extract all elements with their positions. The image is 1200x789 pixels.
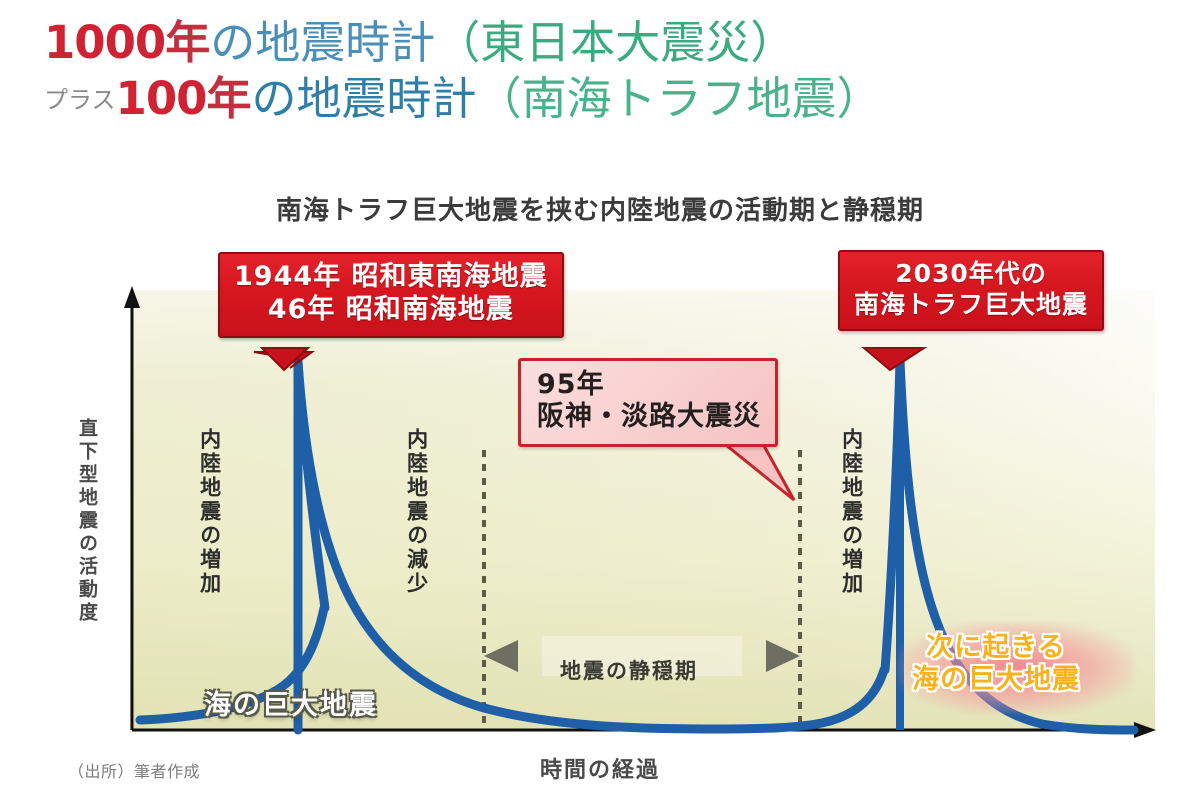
- headline-l1-seg-2: 年: [165, 16, 210, 69]
- headline-l1-seg-1: 1000: [44, 16, 165, 69]
- label-inland-increase-right: 内陸地震の増加: [840, 428, 863, 596]
- headline-line-1: 1000年の地震時計（東日本大震災）: [44, 18, 1044, 68]
- callout-right-tail: [864, 348, 924, 370]
- callout-2030-nankai: 2030年代の 南海トラフ巨大地震: [838, 250, 1104, 331]
- headline-line-2: プラス100年の地震時計（南海トラフ地震）: [44, 74, 1044, 124]
- callout-1944-line1: 1944年 昭和東南海地震: [234, 261, 548, 294]
- label-next-sea-quake-line2: 海の巨大地震: [912, 664, 1080, 696]
- label-inland-decrease: 内陸地震の減少: [405, 428, 428, 596]
- headline-l2-seg-2: 100: [116, 72, 207, 125]
- headline: 1000年の地震時計（東日本大震災） プラス100年の地震時計（南海トラフ地震）: [44, 18, 1044, 125]
- headline-l2-seg-3: 年: [206, 72, 251, 125]
- callout-2030-line1: 2030年代の: [854, 259, 1088, 290]
- callout-2030-line2: 南海トラフ巨大地震: [854, 290, 1088, 321]
- label-sea-quake-left: 海の巨大地震: [204, 683, 378, 722]
- y-axis: [124, 286, 140, 730]
- headline-l2-seg-4: の地震時計: [251, 72, 476, 125]
- callout-1944-showa: 1944年 昭和東南海地震 46年 昭和南海地震: [218, 252, 564, 338]
- label-inland-increase-left: 内陸地震の増加: [198, 428, 221, 596]
- source-note: （出所）筆者作成: [68, 758, 200, 782]
- chart-title: 南海トラフ巨大地震を挟む内陸地震の活動期と静穏期: [0, 190, 1200, 227]
- label-quiet-period: 地震の静穏期: [560, 655, 698, 685]
- headline-l2-seg-5: （南海トラフ地震）: [477, 72, 882, 125]
- callout-1995-line2: 阪神・淡路大震災: [537, 401, 761, 433]
- callout-1995-hanshin: 95年 阪神・淡路大震災: [518, 358, 778, 447]
- label-next-sea-quake-line1: 次に起きる: [912, 632, 1080, 664]
- headline-l2-seg-1: プラス: [44, 86, 116, 114]
- headline-l1-seg-3: の地震時計: [210, 16, 435, 69]
- y-axis-label: 直下型地震の活動度: [74, 418, 101, 625]
- callout-left-tail: [254, 348, 312, 370]
- headline-l1-seg-4: （東日本大震災）: [435, 16, 795, 69]
- label-next-sea-quake: 次に起きる 海の巨大地震: [912, 632, 1080, 696]
- slide-root: 1000年の地震時計（東日本大震災） プラス100年の地震時計（南海トラフ地震）…: [0, 0, 1200, 789]
- callout-1995-line1: 95年: [537, 369, 761, 401]
- callout-1944-line2: 46年 昭和南海地震: [234, 294, 548, 327]
